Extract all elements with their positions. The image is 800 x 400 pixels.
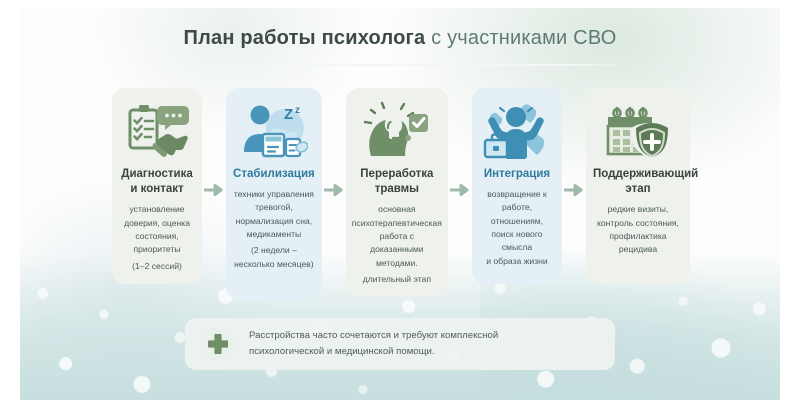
page-title-light: с участниками СВО xyxy=(425,27,616,49)
title-divider xyxy=(172,64,628,66)
svg-text:Z: Z xyxy=(284,106,293,123)
calendar-shield-plus-icon xyxy=(591,99,685,163)
flow-arrow-3 xyxy=(448,88,472,196)
stage-card-title: Поддерживающийэтап xyxy=(591,167,685,197)
stage-card-note: (1–2 сессий) xyxy=(118,260,196,273)
flow-arrow-4 xyxy=(562,88,586,196)
stage-card-note: длительный этап xyxy=(352,273,442,286)
page-title: План работы психолога с участниками СВО xyxy=(0,27,800,50)
person-sleep-medication-icon: Z z xyxy=(231,99,317,163)
medical-cross-icon xyxy=(201,327,235,361)
head-lightbulb-checkmark-icon xyxy=(351,99,443,163)
footer-note-banner: Расстройства часто сочетаются и требуют … xyxy=(185,318,615,370)
outer-frame-top xyxy=(0,0,800,8)
stage-card-stabilization[interactable]: Z z xyxy=(226,88,322,300)
flow-arrow-1 xyxy=(202,88,226,196)
page-title-strong: План работы психолога xyxy=(184,27,426,49)
stage-card-title: Диагностикаи контакт xyxy=(117,167,197,197)
stage-card-diagnostics[interactable]: Диагностикаи контакт установление довери… xyxy=(112,88,202,284)
stage-card-integration[interactable]: Интеграция возвращение к работе, отношен… xyxy=(472,88,562,284)
stage-card-title: Интеграция xyxy=(477,167,557,182)
stage-card-row: Диагностикаи контакт установление довери… xyxy=(112,88,690,288)
footer-note-text: Расстройства часто сочетаются и требуют … xyxy=(249,328,498,360)
person-arms-up-hearts-briefcase-icon xyxy=(477,99,557,163)
svg-text:z: z xyxy=(295,105,300,116)
stage-card-body: основная психотерапевтическая работа с д… xyxy=(351,203,443,286)
stage-card-body: редкие визиты, контроль состояния, профи… xyxy=(591,203,685,256)
stage-card-maintenance[interactable]: Поддерживающийэтап редкие визиты, контро… xyxy=(586,88,690,284)
stage-card-note: (2 недели – несколько месяцев) xyxy=(232,244,316,271)
stage-card-title: Переработкатравмы xyxy=(351,167,443,197)
infographic-canvas: План работы психолога с участниками СВО xyxy=(0,0,800,400)
stage-card-body: техники управления тревогой, нормализаци… xyxy=(231,188,317,271)
flow-arrow-2 xyxy=(322,88,346,196)
stage-card-body: возвращение к работе, отношениям, поиск … xyxy=(477,188,557,268)
stage-card-title: Стабилизация xyxy=(231,167,317,182)
stage-card-trauma-processing[interactable]: Переработкатравмы основная психотерапевт… xyxy=(346,88,448,296)
stage-card-body: установление доверия, оценка состояния, … xyxy=(117,203,197,273)
clipboard-checklist-speech-handshake-icon xyxy=(117,99,197,163)
